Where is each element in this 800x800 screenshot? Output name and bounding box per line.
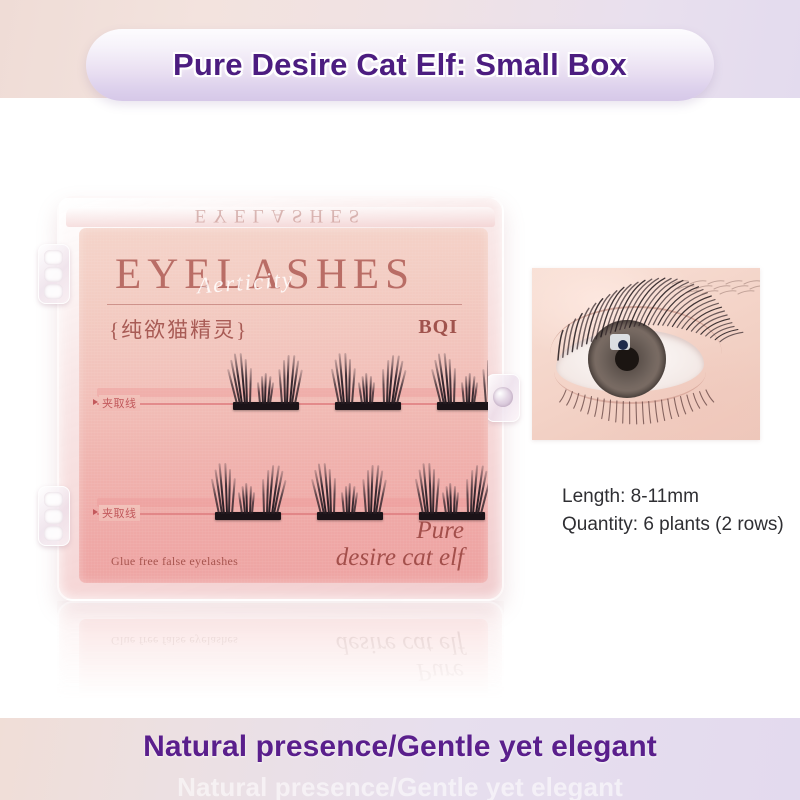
product-label-card: EYELASHES Aerticity {纯欲猫精灵} BQI 夹取线 夹取线	[79, 228, 488, 583]
box-reflection: Glue free false eyelashes Pure desire ca…	[57, 601, 504, 699]
clasp-dot	[493, 387, 513, 407]
chinese-product-name: {纯欲猫精灵}	[109, 314, 248, 344]
lash-cluster	[331, 348, 405, 410]
box-lid-edge: EYELASHES	[66, 207, 495, 227]
spec-length: Length: 8-11mm	[562, 483, 784, 511]
lash-cluster-row-1	[229, 348, 488, 410]
footer-caption: Natural presence/Gentle yet elegant	[0, 730, 800, 764]
box-clasp	[486, 374, 520, 422]
lash-cluster	[211, 458, 285, 520]
lash-cluster	[313, 458, 387, 520]
spec-quantity: Quantity: 6 plants (2 rows)	[562, 511, 784, 539]
eye-closeup-photo	[532, 268, 760, 440]
page-title: Pure Desire Cat Elf: Small Box	[173, 47, 627, 83]
card-footer-left-text: Glue free false eyelashes	[111, 554, 238, 569]
product-specs: Length: 8-11mm Quantity: 6 plants (2 row…	[562, 483, 784, 538]
reflected-footer-left: Glue free false eyelashes	[111, 633, 238, 648]
box-hinge-bottom	[38, 486, 70, 546]
guide-arrow-icon	[93, 509, 98, 515]
applied-lashes-overlay	[532, 268, 760, 440]
brand-code: BQI	[418, 316, 458, 339]
card-footer-line2: desire cat elf	[336, 544, 464, 571]
lash-cluster-row-2	[211, 458, 488, 520]
lash-cluster	[415, 458, 488, 520]
header-banner: Pure Desire Cat Elf: Small Box	[86, 29, 714, 101]
lid-reflected-brand-text: EYELASHES	[195, 207, 367, 226]
box-hinge-top	[38, 244, 70, 304]
guide-label-1: 夹取线	[99, 395, 140, 411]
lash-cluster	[433, 348, 488, 410]
product-box: EYELASHES EYELASHES Aerticity {纯欲猫精灵} BQ…	[57, 196, 504, 601]
reflected-footer-right: Pure desire cat elf	[336, 631, 464, 685]
card-footer-right-text: Pure desire cat elf	[336, 517, 464, 571]
lash-cluster	[229, 348, 303, 410]
footer-caption-reflection: Natural presence/Gentle yet elegant	[0, 772, 800, 800]
guide-arrow-icon	[93, 399, 98, 405]
product-marketing-image: Pure Desire Cat Elf: Small Box EYELASHES…	[0, 0, 800, 800]
divider-rule	[107, 304, 462, 305]
box-reflection-inner: Glue free false eyelashes Pure desire ca…	[57, 601, 504, 699]
card-footer-line1: Pure	[336, 517, 464, 544]
guide-label-2: 夹取线	[99, 505, 140, 521]
